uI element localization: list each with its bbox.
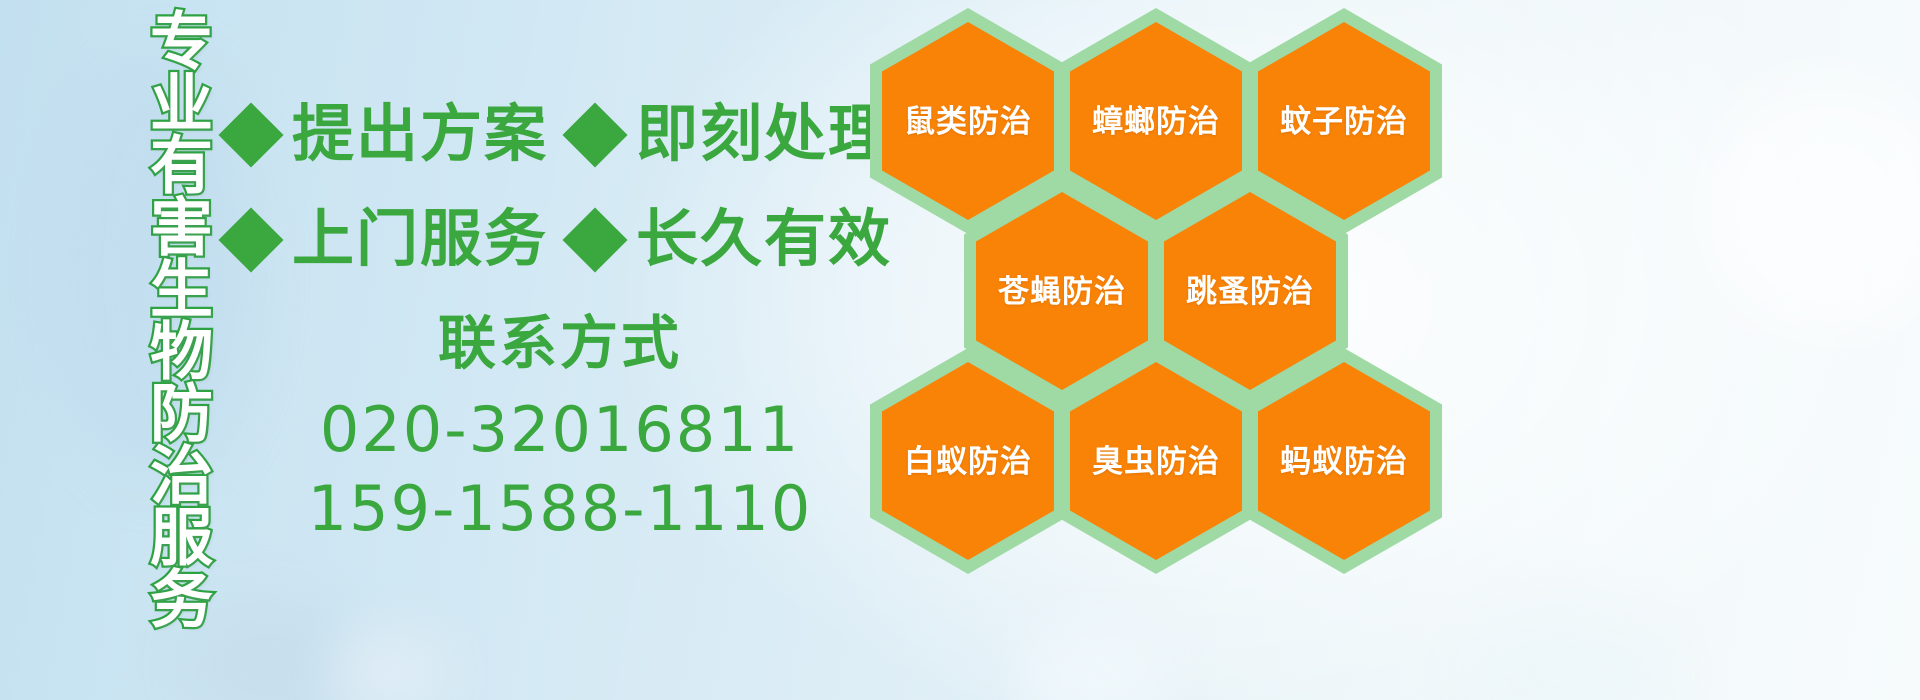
feature-label: 提出方案 bbox=[292, 104, 548, 166]
feature-row: 提出方案 即刻处理 bbox=[228, 82, 888, 187]
diamond-icon bbox=[218, 102, 283, 167]
vertical-headline: 专业有害生物防治服务 bbox=[112, 8, 208, 568]
hex-inner: 蚂蚁防治 bbox=[1258, 362, 1430, 560]
hex-label: 鼠类防治 bbox=[904, 106, 1032, 137]
hex-label: 苍蝇防治 bbox=[998, 276, 1126, 307]
hex-label: 白蚁防治 bbox=[904, 446, 1032, 477]
feature-item-door-to-door-service: 上门服务 bbox=[228, 209, 548, 271]
contact-heading: 联系方式 bbox=[230, 312, 890, 376]
contact-block: 联系方式 020-32016811 159-1588-1110 bbox=[230, 312, 890, 549]
feature-label: 即刻处理 bbox=[636, 104, 892, 166]
feature-label: 上门服务 bbox=[292, 209, 548, 271]
contact-phone-mobile[interactable]: 159-1588-1110 bbox=[230, 469, 890, 548]
hex-inner: 鼠类防治 bbox=[882, 22, 1054, 220]
feature-label: 长久有效 bbox=[636, 209, 892, 271]
hex-inner: 白蚁防治 bbox=[882, 362, 1054, 560]
hex-inner: 蚊子防治 bbox=[1258, 22, 1430, 220]
hex-inner: 苍蝇防治 bbox=[976, 192, 1148, 390]
service-honeycomb: 鼠类防治 蟑螂防治 蚊子防治 苍蝇防治 跳蚤防治 白蚁防治 bbox=[862, 0, 1462, 580]
feature-row: 上门服务 长久有效 bbox=[228, 187, 888, 292]
feature-list: 提出方案 即刻处理 上门服务 长久有效 bbox=[228, 82, 888, 292]
hex-inner: 臭虫防治 bbox=[1070, 362, 1242, 560]
hex-label: 蚊子防治 bbox=[1280, 106, 1408, 137]
background-blob bbox=[1460, 610, 1680, 700]
feature-item-long-lasting-effect: 长久有效 bbox=[572, 209, 892, 271]
pest-control-banner: 专业有害生物防治服务 提出方案 即刻处理 上门服务 长久有效 联系方式 bbox=[0, 0, 1920, 700]
diamond-icon bbox=[218, 207, 283, 272]
background-blob bbox=[1700, 80, 1920, 340]
diamond-icon bbox=[562, 102, 627, 167]
hex-label: 臭虫防治 bbox=[1092, 446, 1220, 477]
hex-inner: 跳蚤防治 bbox=[1164, 192, 1336, 390]
diamond-icon bbox=[562, 207, 627, 272]
hex-inner: 蟑螂防治 bbox=[1070, 22, 1242, 220]
hex-label: 蟑螂防治 bbox=[1092, 106, 1220, 137]
background-blob bbox=[330, 628, 450, 700]
hex-label: 跳蚤防治 bbox=[1186, 276, 1314, 307]
feature-item-propose-plan: 提出方案 bbox=[228, 104, 548, 166]
background-blob bbox=[1020, 620, 1170, 700]
feature-item-immediate-handling: 即刻处理 bbox=[572, 104, 892, 166]
contact-phone-landline[interactable]: 020-32016811 bbox=[230, 390, 890, 469]
hex-label: 蚂蚁防治 bbox=[1280, 446, 1408, 477]
